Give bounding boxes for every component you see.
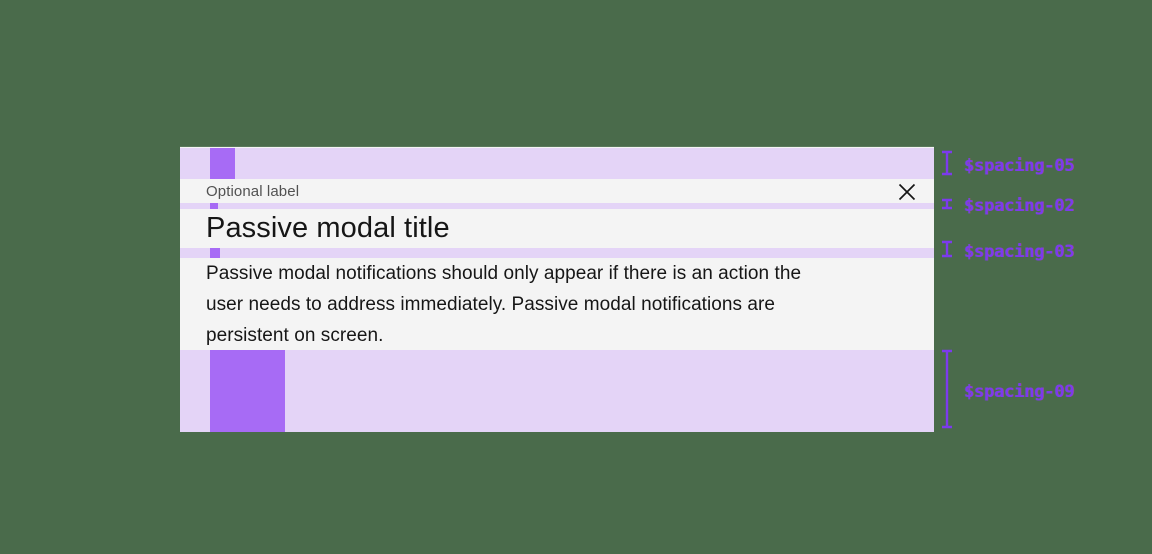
measure-ibeam-icon xyxy=(940,150,954,181)
modal-body-text: Passive modal notifications should only … xyxy=(206,258,806,351)
spacing-overlay-09 xyxy=(180,350,934,432)
spacing-overlay-05-indent xyxy=(180,148,210,179)
annotation-label: $spacing-05 xyxy=(964,156,1074,176)
annotation-label: $spacing-03 xyxy=(964,242,1074,262)
annotation-spacing-09: $spacing-09 xyxy=(940,349,1074,434)
annotation-label: $spacing-02 xyxy=(964,196,1074,216)
modal-title: Passive modal title xyxy=(206,209,450,247)
annotation-spacing-03: $spacing-03 xyxy=(940,240,1074,263)
annotation-spacing-02: $spacing-02 xyxy=(940,196,1074,216)
close-button[interactable] xyxy=(892,177,922,207)
spacing-overlay-03-swatch xyxy=(210,248,220,258)
measure-ibeam-icon xyxy=(940,349,954,434)
close-icon xyxy=(896,181,918,203)
passive-modal: Optional label Passive modal title Passi… xyxy=(180,146,934,431)
spacing-overlay-05 xyxy=(180,148,934,179)
spacing-overlay-09-swatch xyxy=(210,350,285,432)
spacing-overlay-03-indent xyxy=(180,248,210,258)
optional-label: Optional label xyxy=(206,184,299,199)
measure-ibeam-icon xyxy=(940,197,954,215)
spacing-overlay-05-swatch xyxy=(210,148,235,179)
annotation-spacing-05: $spacing-05 xyxy=(940,150,1074,181)
spacing-overlay-03 xyxy=(180,248,934,258)
spacing-overlay-09-indent xyxy=(180,350,210,432)
modal-header-row: Optional label xyxy=(206,179,918,203)
measure-ibeam-icon xyxy=(940,240,954,263)
annotation-label: $spacing-09 xyxy=(964,382,1074,402)
